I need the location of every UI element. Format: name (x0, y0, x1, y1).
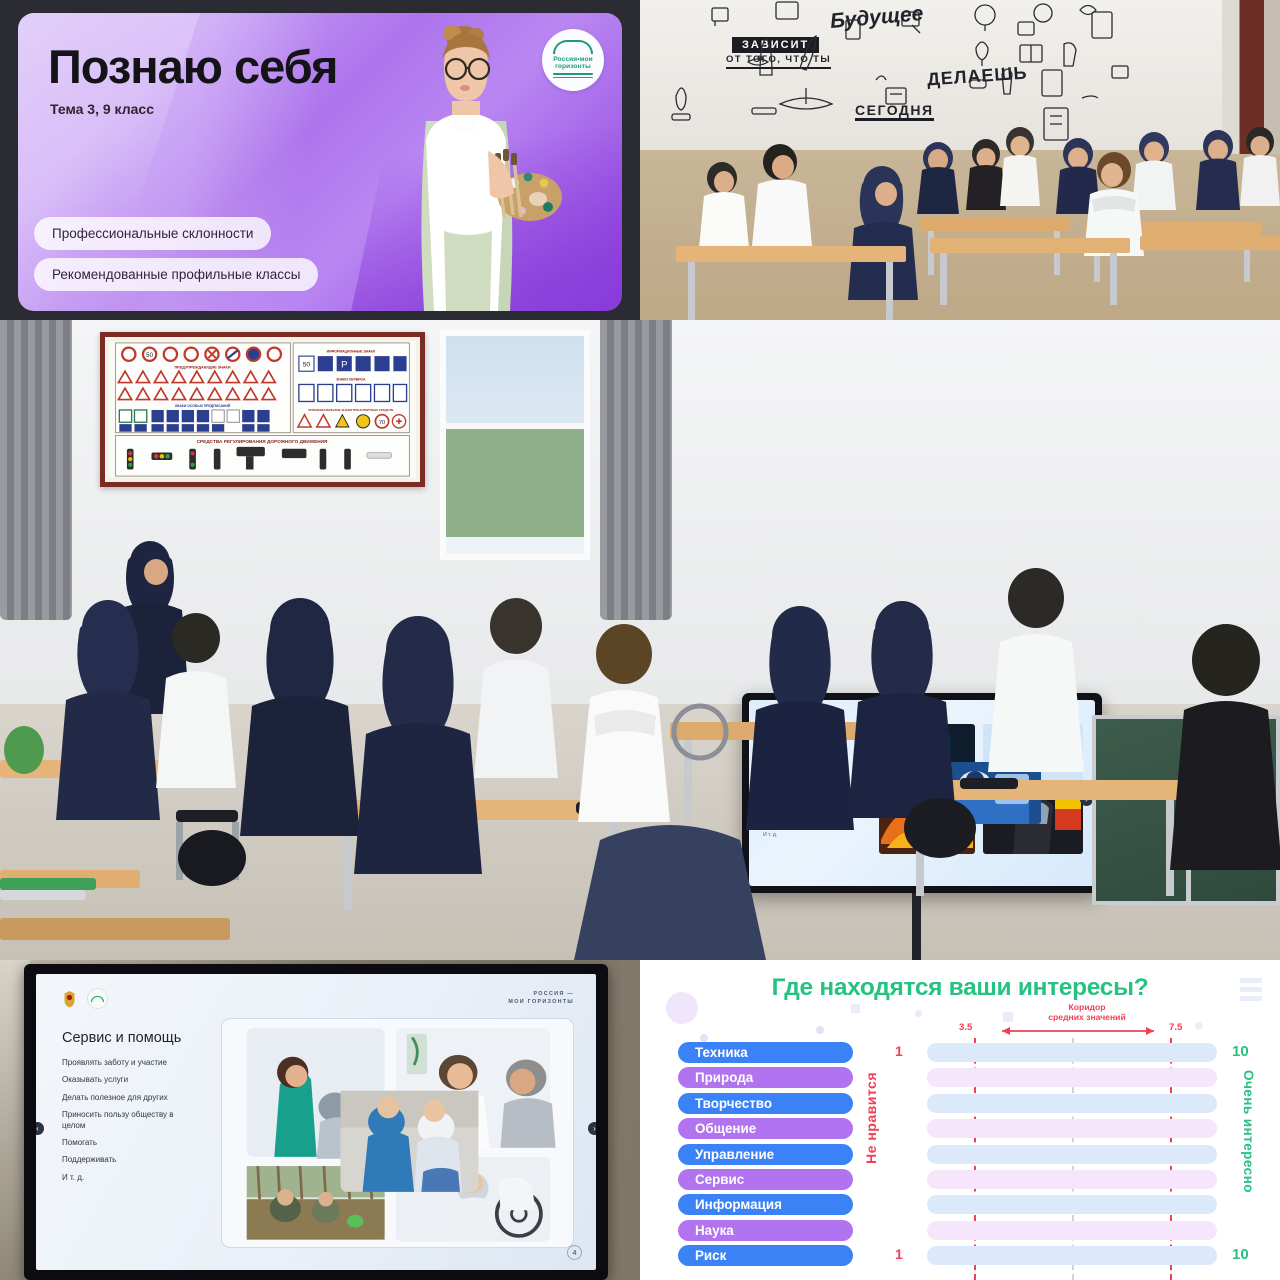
slide-bullet: Оказывать услуги (62, 1075, 194, 1085)
svg-text:ЗНАКИ ОСОБЫХ ПРЕДПИСАНИЙ: ЗНАКИ ОСОБЫХ ПРЕДПИСАНИЙ (175, 404, 231, 408)
slide-brand-text: РОССИЯ — МОИ ГОРИЗОНТЫ (508, 990, 574, 1007)
svg-text:P: P (341, 359, 347, 370)
decor-square (851, 1004, 860, 1013)
logo-text-line2: горизонты (555, 63, 591, 70)
rating-track-4[interactable] (927, 1145, 1217, 1164)
panel-classroom-photo-top: Будущее ЗАВИСИТ ОТ ТОГО, ЧТО ТЫ ДЕЛАЕШЬ … (640, 0, 1280, 320)
pill-recommended-profile-classes[interactable]: Рекомендованные профильные классы (34, 258, 318, 291)
corridor-low-value: 3.5 (959, 1022, 972, 1033)
category-pill-0[interactable]: Техника (678, 1042, 853, 1063)
corridor-high-value: 7.5 (1169, 1022, 1182, 1033)
logo-text-line1: Россия•мои (553, 56, 593, 63)
svg-text:ОПОЗНАВАТЕЛЬНЫЕ ЗНАКИ ТРАНСПОР: ОПОЗНАВАТЕЛЬНЫЕ ЗНАКИ ТРАНСПОРТНЫХ СРЕДС… (308, 408, 394, 412)
slide-bullet: Проявлять заботу и участие (62, 1058, 194, 1068)
slide-next-button[interactable]: › (588, 1122, 596, 1135)
svg-text:ИНФОРМАЦИОННЫЕ ЗНАКИ: ИНФОРМАЦИОННЫЕ ЗНАКИ (327, 349, 376, 353)
main-students-and-desks (0, 510, 1280, 960)
svg-text:ПРЕДУПРЕЖДАЮЩИЕ ЗНАКИ: ПРЕДУПРЕЖДАЮЩИЕ ЗНАКИ (174, 365, 230, 369)
scale-min-label: 1 (895, 1246, 903, 1262)
student-illustration (352, 13, 567, 311)
rating-track-3[interactable] (927, 1119, 1217, 1138)
logo-lines-icon (553, 73, 593, 80)
slide-bullet: Помогать (62, 1138, 194, 1148)
chart-title: Где находятся ваши интересы? (640, 974, 1280, 1002)
panel-title-slide: Познаю себя Тема 3, 9 класс Россия•мои г… (0, 0, 640, 320)
slide-bullet-list: Проявлять заботу и участие Оказывать усл… (62, 1058, 194, 1190)
rating-track-5[interactable] (927, 1170, 1217, 1189)
category-pill-8[interactable]: Риск (678, 1245, 853, 1266)
slide-bullet: И т. д. (62, 1173, 194, 1183)
category-pill-2[interactable]: Творчество (678, 1093, 853, 1114)
category-pill-1[interactable]: Природа (678, 1067, 853, 1088)
students-and-desks (640, 118, 1280, 320)
svg-text:70: 70 (379, 420, 385, 426)
scale-max-label: 10 (1232, 1043, 1249, 1060)
scale-min-label: 1 (895, 1043, 903, 1059)
classroom-display: РОССИЯ — МОИ ГОРИЗОНТЫ Сервис и помощь П… (24, 964, 608, 1280)
corridor-label: Коридор средних значений (1012, 1002, 1162, 1023)
rating-track-8[interactable] (927, 1246, 1217, 1265)
panel-interests-chart: Где находятся ваши интересы? Коридор сре… (640, 960, 1280, 1280)
rating-track-1[interactable] (927, 1068, 1217, 1087)
chart-row[interactable]: Техника110 (640, 1040, 1280, 1065)
slide-bullet: Делать полезное для других (62, 1093, 194, 1103)
slide-heading: Сервис и помощь (62, 1030, 181, 1046)
coat-of-arms-icon (62, 990, 77, 1008)
photo-collage: Познаю себя Тема 3, 9 класс Россия•мои г… (0, 0, 1280, 1280)
rating-track-0[interactable] (927, 1043, 1217, 1062)
slide-number-badge: 4 (567, 1245, 582, 1260)
display-screen: РОССИЯ — МОИ ГОРИЗОНТЫ Сервис и помощь П… (36, 974, 596, 1270)
svg-text:50: 50 (146, 352, 153, 359)
slide-image-gallery (221, 1018, 574, 1248)
panel-service-slide-photo: РОССИЯ — МОИ ГОРИЗОНТЫ Сервис и помощь П… (0, 960, 640, 1280)
chart-row[interactable]: Наука (640, 1218, 1280, 1243)
panel-classroom-photo-main: 50 ПРЕДУПРЕЖДАЮЩИЕ ЗНАКИ (0, 320, 1280, 960)
slide-bullet: Приносить пользу обществу в целом (62, 1110, 194, 1131)
category-pill-6[interactable]: Информация (678, 1194, 853, 1215)
title-slide-card: Познаю себя Тема 3, 9 класс Россия•мои г… (18, 13, 622, 311)
chart-row[interactable]: Сервис (640, 1167, 1280, 1192)
traffic-signs-poster: 50 ПРЕДУПРЕЖДАЮЩИЕ ЗНАКИ (100, 332, 425, 487)
chart-row[interactable]: Риск110 (640, 1243, 1280, 1268)
slide-topic-pills: Профессиональные склонности Рекомендован… (34, 217, 318, 299)
scale-max-label: 10 (1232, 1246, 1249, 1263)
chart-rows: Техника110ПриродаТворчествоОбщениеУправл… (640, 1040, 1280, 1269)
chart-row[interactable]: Творчество (640, 1091, 1280, 1116)
rating-track-7[interactable] (927, 1221, 1217, 1240)
decor-dot (1195, 1022, 1203, 1030)
poster-caption: СРЕДСТВА РЕГУЛИРОВАНИЯ ДОРОЖНОГО ДВИЖЕНИ… (197, 439, 328, 445)
rating-track-6[interactable] (927, 1195, 1217, 1214)
slide-bullet: Поддерживать (62, 1155, 194, 1165)
svg-text:ЗНАКИ СЕРВИСА: ЗНАКИ СЕРВИСА (336, 378, 366, 382)
category-pill-5[interactable]: Сервис (678, 1169, 853, 1190)
corridor-arrow-icon (992, 1026, 1164, 1036)
chart-row[interactable]: Природа (640, 1065, 1280, 1090)
logo-arc-icon (553, 40, 593, 54)
chart-row[interactable]: Управление (640, 1142, 1280, 1167)
slide-logos (62, 988, 108, 1009)
slide-prev-button[interactable]: ‹ (36, 1122, 44, 1135)
rmg-logo-icon (87, 988, 108, 1009)
category-pill-7[interactable]: Наука (678, 1220, 853, 1241)
page-title: Познаю себя (48, 39, 337, 94)
slide-subtitle: Тема 3, 9 класс (50, 101, 154, 117)
svg-text:50: 50 (303, 362, 311, 369)
category-pill-3[interactable]: Общение (678, 1118, 853, 1139)
chart-row[interactable]: Информация (640, 1192, 1280, 1217)
decor-dot (915, 1010, 922, 1017)
category-pill-4[interactable]: Управление (678, 1144, 853, 1165)
decor-dot (816, 1026, 824, 1034)
pill-professional-inclinations[interactable]: Профессиональные склонности (34, 217, 271, 250)
rating-track-2[interactable] (927, 1094, 1217, 1113)
rossiya-moi-gorizonty-logo: Россия•мои горизонты (542, 29, 604, 91)
chart-row[interactable]: Общение (640, 1116, 1280, 1141)
